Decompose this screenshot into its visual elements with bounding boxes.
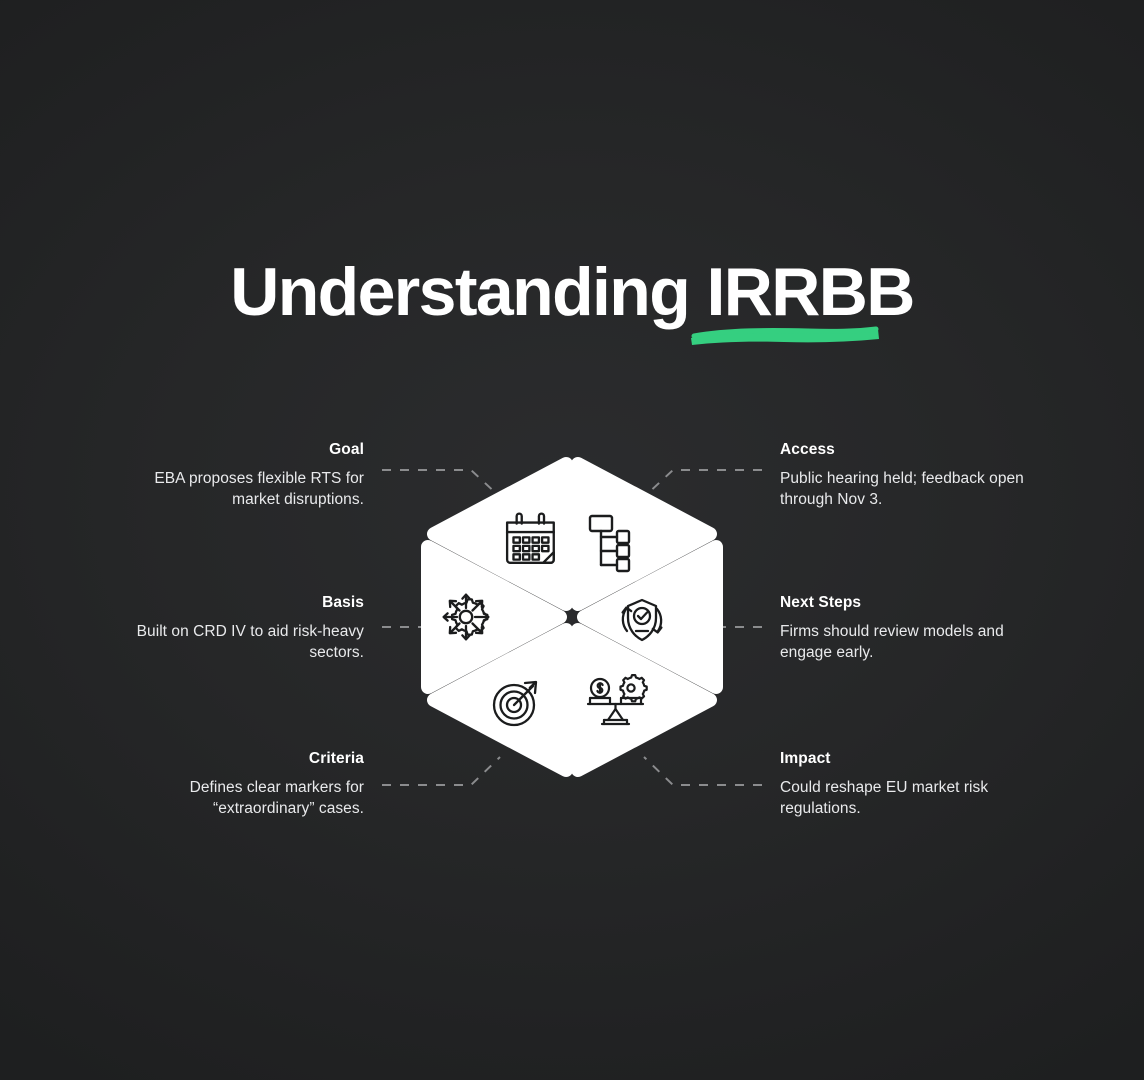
info-block-body: Firms should review models and engage ea… bbox=[780, 622, 1032, 663]
page-title: Understanding IRRBB bbox=[230, 258, 914, 326]
info-block-body: EBA proposes flexible RTS for market dis… bbox=[112, 469, 364, 510]
info-block-next-steps: Next Steps Firms should review models an… bbox=[780, 593, 1032, 663]
info-block-body: Public hearing held; feedback open throu… bbox=[780, 469, 1032, 510]
info-block-title: Goal bbox=[112, 440, 364, 460]
info-block-impact: Impact Could reshape EU market risk regu… bbox=[780, 749, 1032, 819]
info-block-title: Impact bbox=[780, 749, 1032, 769]
info-block-goal: Goal EBA proposes flexible RTS for marke… bbox=[112, 440, 364, 510]
info-block-title: Basis bbox=[112, 593, 364, 613]
info-block-criteria: Criteria Defines clear markers for “extr… bbox=[112, 749, 364, 819]
info-block-title: Criteria bbox=[112, 749, 364, 769]
title-area: Understanding IRRBB bbox=[0, 258, 1144, 326]
info-block-title: Next Steps bbox=[780, 593, 1032, 613]
info-block-access: Access Public hearing held; feedback ope… bbox=[780, 440, 1032, 510]
title-lead: Understanding bbox=[230, 254, 706, 330]
hexagon-diagram bbox=[411, 455, 733, 800]
info-block-body: Built on CRD IV to aid risk-heavy sector… bbox=[112, 622, 364, 663]
info-block-body: Could reshape EU market risk regulations… bbox=[780, 778, 1032, 819]
info-block-basis: Basis Built on CRD IV to aid risk-heavy … bbox=[112, 593, 364, 663]
info-block-title: Access bbox=[780, 440, 1032, 460]
title-highlight: IRRBB bbox=[706, 258, 913, 326]
info-block-body: Defines clear markers for “extraordinary… bbox=[112, 778, 364, 819]
infographic-canvas: Understanding IRRBB bbox=[0, 0, 1144, 1080]
